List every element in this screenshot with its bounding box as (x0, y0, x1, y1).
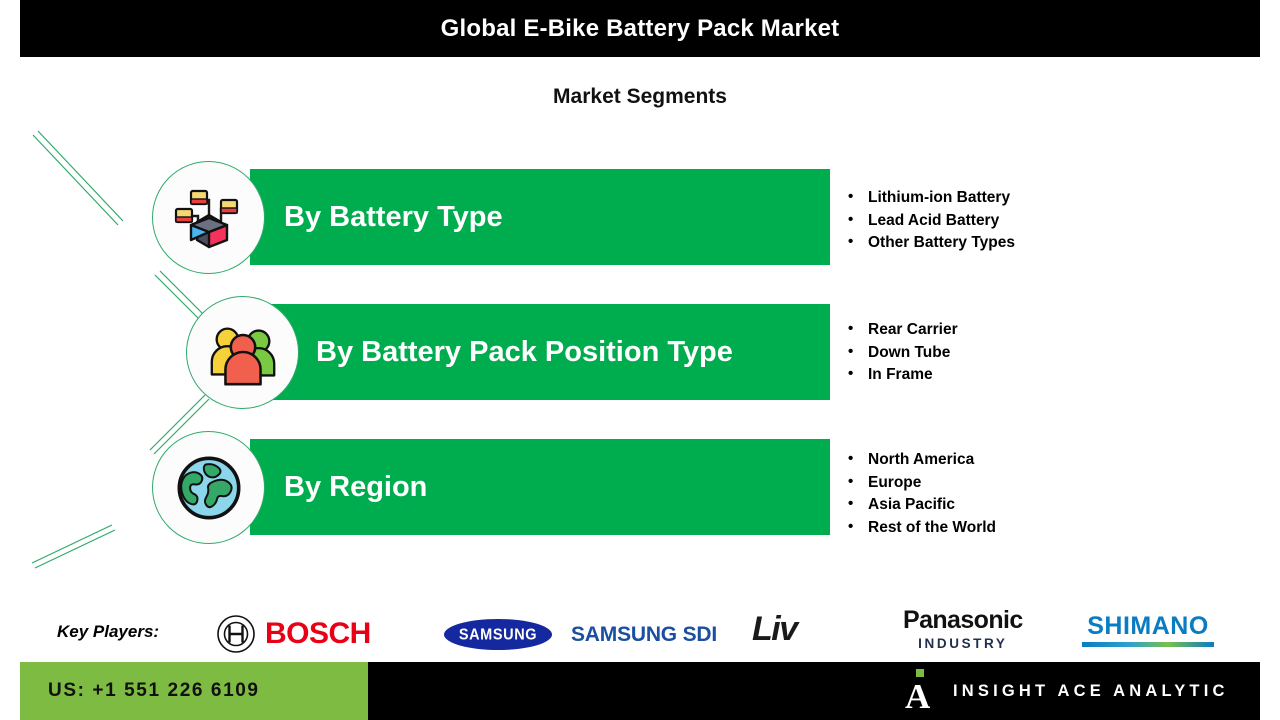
infographic-slide: Global E-Bike Battery Pack Market Market… (0, 0, 1280, 720)
insight-ace-logo-icon: A (905, 669, 939, 713)
segment-bullets-3: North America Europe Asia Pacific Rest o… (840, 449, 996, 539)
header-bar: Global E-Bike Battery Pack Market (20, 0, 1260, 57)
list-item: Lead Acid Battery (840, 210, 1015, 233)
shimano-wordmark: SHIMANO (1082, 614, 1214, 639)
footer-contact-bar: US: +1 551 226 6109 (20, 662, 368, 720)
footer-phone-number[interactable]: US: +1 551 226 6109 (48, 680, 260, 702)
bosch-symbol-icon (216, 614, 256, 654)
panasonic-logo: Panasonic INDUSTRY (903, 608, 1023, 651)
samsung-wordmark: SAMSUNG (459, 626, 537, 643)
people-group-icon (204, 314, 282, 392)
list-item: Rear Carrier (840, 319, 958, 342)
segment-label-1: By Battery Type (284, 201, 503, 234)
battery-network-cube-icon (169, 178, 249, 258)
liv-wordmark: Liv (752, 612, 797, 646)
panasonic-sub-wordmark: INDUSTRY (903, 637, 1023, 651)
key-players-label: Key Players: (57, 622, 159, 642)
brand-dot-icon (916, 669, 924, 677)
bosch-logo: BOSCH (216, 614, 371, 654)
segment-bar-2[interactable]: By Battery Pack Position Type (250, 304, 830, 400)
footer-brand-bar: A INSIGHT ACE ANALYTIC (368, 662, 1260, 720)
liv-logo: Liv (752, 612, 797, 646)
segment-icon-circle-3 (152, 431, 265, 544)
shimano-logo: SHIMANO (1082, 614, 1214, 647)
brand-letter: A (905, 679, 930, 714)
bosch-wordmark: BOSCH (265, 619, 371, 649)
list-item: Rest of the World (840, 517, 996, 540)
samsung-ellipse: SAMSUNG (444, 619, 552, 650)
list-item: Lithium-ion Battery (840, 187, 1015, 210)
segment-bullets-2: Rear Carrier Down Tube In Frame (840, 319, 958, 387)
segment-icon-circle-1 (152, 161, 265, 274)
section-subtitle: Market Segments (0, 85, 1280, 109)
segment-bar-3[interactable]: By Region (250, 439, 830, 535)
segment-label-2: By Battery Pack Position Type (316, 336, 733, 369)
segment-bar-1[interactable]: By Battery Type (250, 169, 830, 265)
page-title: Global E-Bike Battery Pack Market (441, 15, 840, 43)
segment-bullets-1: Lithium-ion Battery Lead Acid Battery Ot… (840, 187, 1015, 255)
list-item: Other Battery Types (840, 232, 1015, 255)
samsung-sdi-wordmark: SAMSUNG SDI (571, 623, 717, 647)
list-item: Down Tube (840, 342, 958, 365)
samsung-logo: SAMSUNG (444, 619, 552, 650)
list-item: North America (840, 449, 996, 472)
list-item: Europe (840, 472, 996, 495)
samsung-sdi-logo: SAMSUNG SDI (571, 623, 717, 647)
list-item: Asia Pacific (840, 494, 996, 517)
panasonic-wordmark: Panasonic (903, 608, 1023, 633)
brand-name: INSIGHT ACE ANALYTIC (953, 682, 1229, 701)
segment-icon-circle-2 (186, 296, 299, 409)
shimano-underline (1082, 642, 1214, 647)
globe-icon (173, 452, 245, 524)
segment-label-3: By Region (284, 471, 427, 504)
list-item: In Frame (840, 364, 958, 387)
